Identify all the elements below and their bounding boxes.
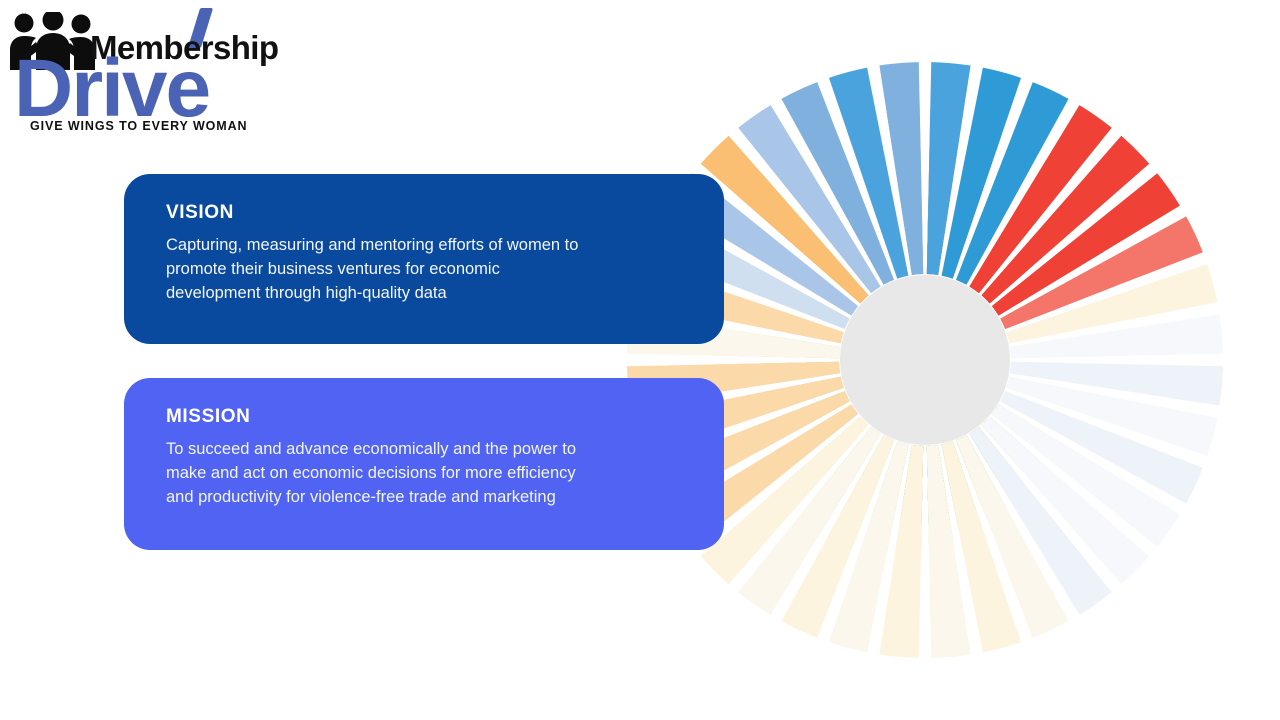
radial-bar-chart bbox=[627, 62, 1223, 658]
chart-center-hub bbox=[840, 275, 1010, 445]
logo-tagline: GIVE WINGS TO EVERY WOMAN bbox=[30, 120, 247, 133]
vision-card: VISION Capturing, measuring and mentorin… bbox=[124, 174, 724, 344]
vision-card-body: Capturing, measuring and mentoring effor… bbox=[166, 233, 596, 305]
mission-card: MISSION To succeed and advance economica… bbox=[124, 378, 724, 550]
vision-card-title: VISION bbox=[166, 202, 724, 225]
radial-chart-canvas bbox=[627, 62, 1223, 658]
slide-root: Membership Drive GIVE WINGS TO EVERY WOM… bbox=[0, 0, 1280, 720]
brand-logo: Membership Drive GIVE WINGS TO EVERY WOM… bbox=[8, 6, 258, 138]
mission-card-body: To succeed and advance economically and … bbox=[166, 437, 596, 509]
logo-word-drive: Drive bbox=[14, 48, 209, 130]
mission-card-title: MISSION bbox=[166, 406, 724, 429]
